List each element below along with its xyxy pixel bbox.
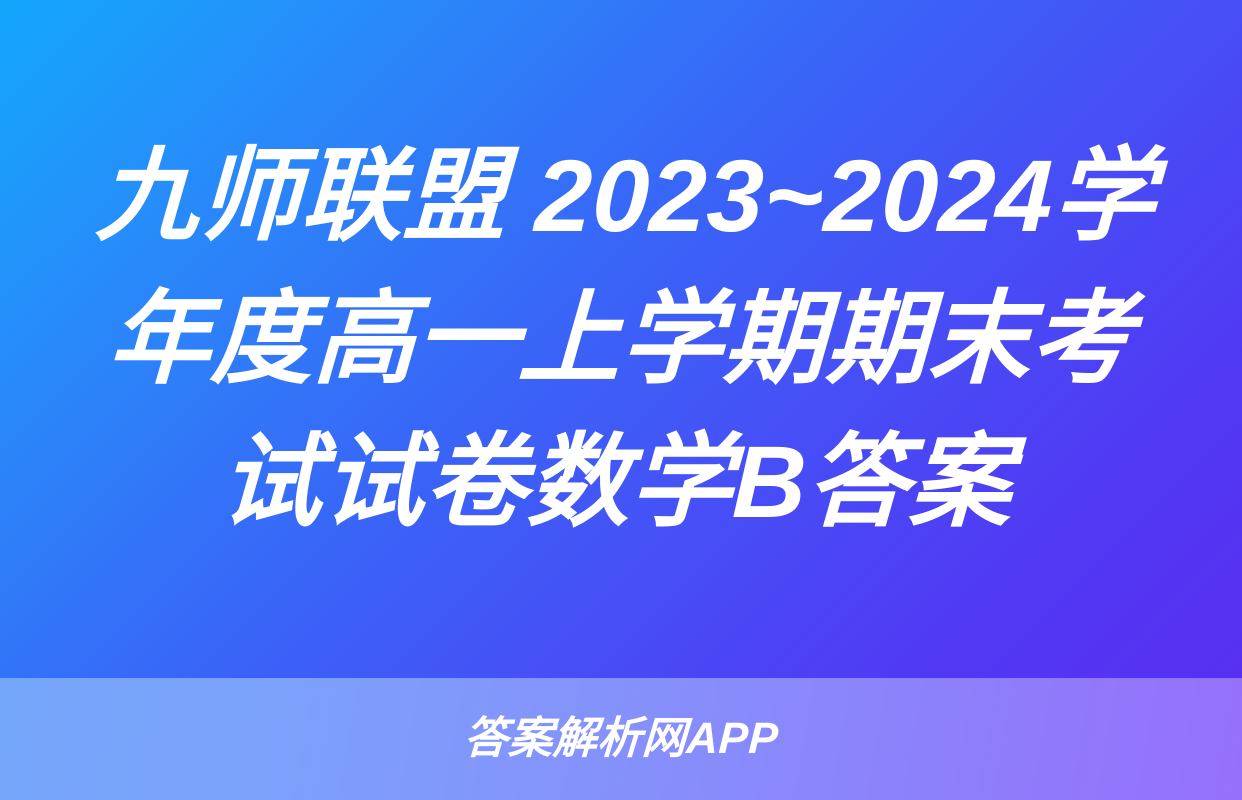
hero-gradient-panel: 九师联盟 2023~2024学年度高一上学期期末考试试卷数学B答案 bbox=[0, 0, 1242, 678]
app-promo-banner: 答案解析网APP bbox=[0, 678, 1242, 800]
poster-screen: 九师联盟 2023~2024学年度高一上学期期末考试试卷数学B答案 答案解析网A… bbox=[0, 0, 1242, 800]
page-title: 九师联盟 2023~2024学年度高一上学期期末考试试卷数学B答案 bbox=[56, 125, 1187, 554]
app-promo-label: 答案解析网APP bbox=[462, 715, 779, 763]
